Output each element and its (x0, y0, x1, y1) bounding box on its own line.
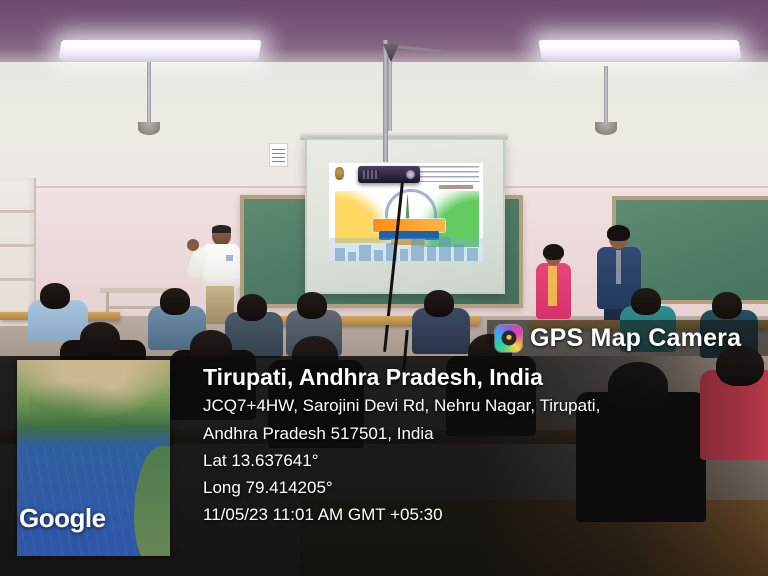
location-longitude: Long 79.414205° (203, 474, 763, 501)
slide-emblem-icon (335, 167, 344, 180)
location-place: Tirupati, Andhra Pradesh, India (203, 362, 763, 392)
tube-light-left (58, 40, 261, 60)
projection-screen (305, 138, 505, 294)
standing-person-pink (534, 246, 572, 326)
student-head (237, 294, 267, 321)
gps-camera-icon (495, 325, 522, 352)
ceiling-projector (358, 166, 420, 183)
student-head (80, 322, 120, 356)
location-latitude: Lat 13.637641° (203, 447, 763, 474)
location-timestamp: 11/05/23 11:01 AM GMT +05:30 (203, 501, 763, 528)
slide-skyline (329, 231, 483, 261)
map-thumbnail[interactable]: Google (17, 360, 170, 556)
student-head (40, 283, 70, 309)
student-head (712, 292, 742, 319)
fan-rod-center (388, 58, 392, 138)
tube-light-right (538, 40, 741, 60)
student-head (297, 292, 327, 319)
fan-rod-right (604, 66, 608, 124)
gps-map-camera-photo: GPS Map Camera Google Tirupati, Andhra P… (0, 0, 768, 576)
student-head (424, 290, 454, 317)
gps-app-header: GPS Map Camera (487, 320, 768, 356)
gps-app-title: GPS Map Camera (530, 326, 741, 351)
location-address-line2: Andhra Pradesh 517501, India (203, 420, 763, 447)
projector-mount-rod (383, 40, 388, 162)
student-head (631, 288, 661, 315)
gps-location-details: Tirupati, Andhra Pradesh, India JCQ7+4HW… (203, 362, 763, 528)
fan-rod-left (147, 62, 151, 124)
student-head (160, 288, 190, 315)
map-vegetation (29, 380, 136, 431)
fan-hub-right (595, 122, 617, 135)
google-watermark: Google (19, 503, 106, 534)
location-address-line1: JCQ7+4HW, Sarojini Devi Rd, Nehru Nagar,… (203, 392, 763, 419)
fan-hub-left (138, 122, 160, 135)
wall-notice (269, 143, 288, 167)
slide-date-text (439, 185, 473, 189)
